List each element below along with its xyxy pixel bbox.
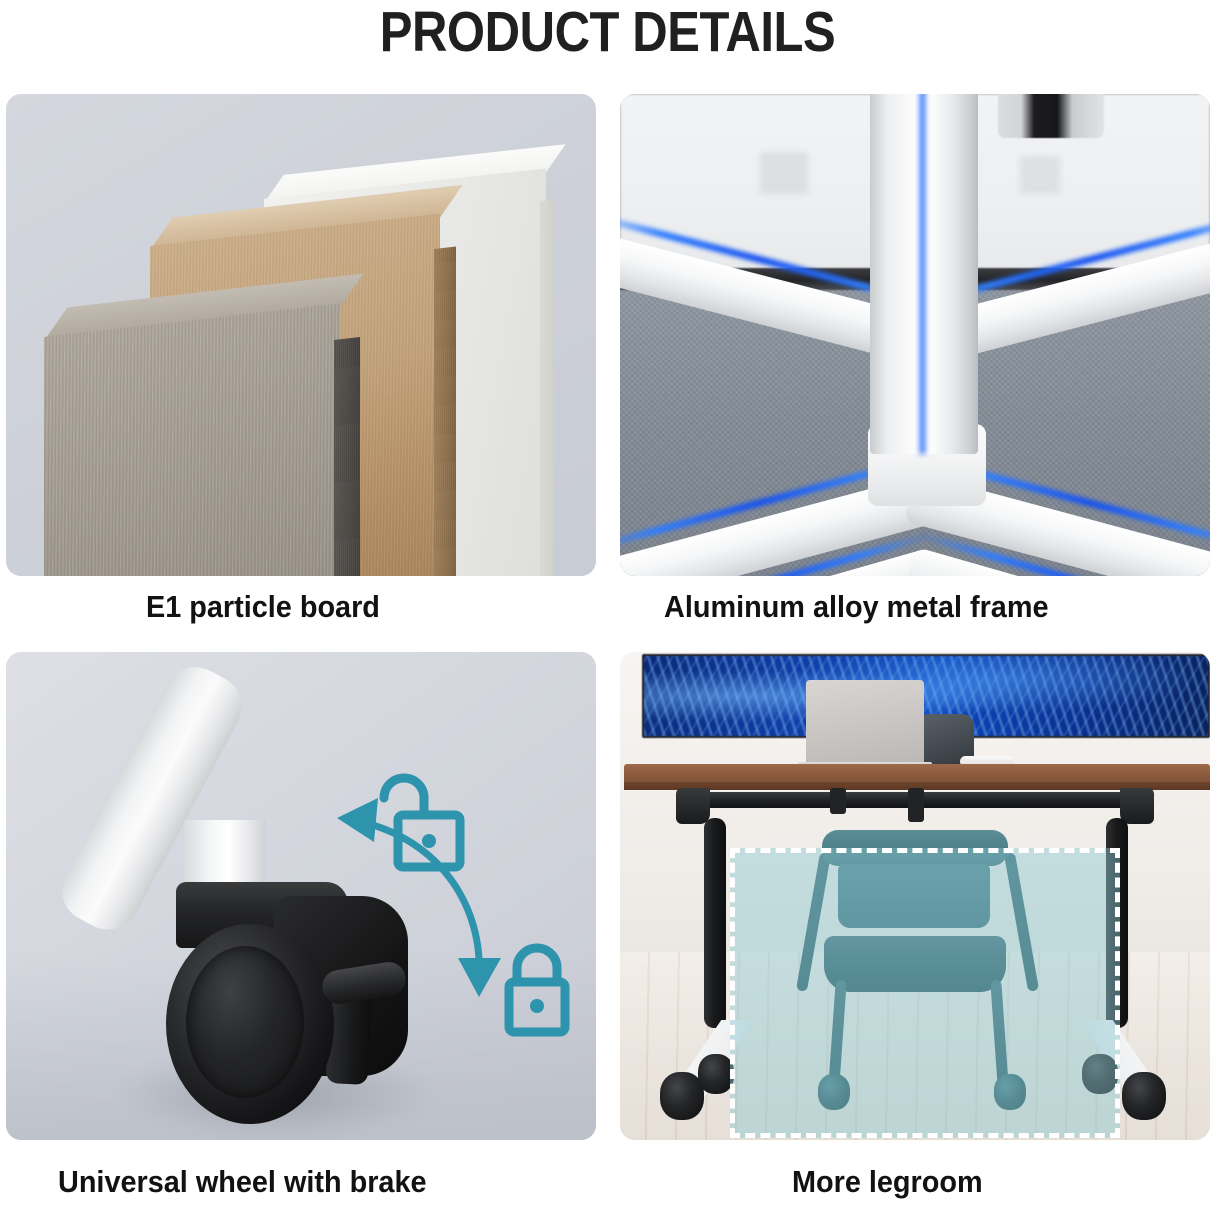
feature-panel-more-legroom	[620, 652, 1210, 1140]
desk-frame-tab-left	[830, 788, 846, 814]
desk-leg-left	[704, 818, 726, 1028]
board-sample-gray-edge	[334, 337, 360, 576]
lock-indicator-group	[6, 652, 596, 1140]
desk-caster-left-inner	[698, 1054, 734, 1094]
laptop	[806, 680, 924, 766]
board-sample-wood-edge	[434, 247, 456, 576]
legroom-highlight-area	[730, 848, 1120, 1138]
frame-column-glow	[918, 94, 927, 454]
product-details-infographic: PRODUCT DETAILS E1 particle board	[0, 0, 1215, 1205]
curved-arrow-head-down	[458, 958, 501, 997]
photo-more-legroom	[620, 652, 1210, 1140]
feature-panel-universal-wheel-with-brake	[6, 652, 596, 1140]
board-sample-white-edge	[540, 199, 554, 576]
caption-more-legroom: More legroom	[792, 1164, 983, 1200]
wall-blur-object-left	[760, 152, 808, 194]
photo-aluminum-alloy-metal-frame	[620, 94, 1210, 576]
caption-aluminum-alloy-metal-frame: Aluminum alloy metal frame	[664, 589, 1049, 625]
photo-e1-particle-board	[6, 94, 596, 576]
wall-dark-object	[998, 94, 1104, 138]
board-sample-gray	[44, 303, 340, 576]
caption-e1-particle-board: E1 particle board	[146, 589, 380, 625]
feature-panel-e1-particle-board	[6, 94, 596, 576]
desk-caster-right-outer	[1122, 1072, 1166, 1120]
lock-icon	[509, 948, 565, 1032]
curved-arrow-head-left	[337, 798, 378, 842]
desk-frame-tab-right	[908, 788, 924, 822]
desk-clamp-left	[676, 788, 710, 824]
caption-universal-wheel-with-brake: Universal wheel with brake	[58, 1164, 427, 1200]
desk-clamp-right	[1120, 788, 1154, 824]
photo-universal-wheel-with-brake	[6, 652, 596, 1140]
feature-panel-grid: E1 particle board	[0, 0, 1215, 1205]
wall-blur-object-right	[1020, 156, 1060, 194]
feature-panel-aluminum-alloy-metal-frame	[620, 94, 1210, 576]
